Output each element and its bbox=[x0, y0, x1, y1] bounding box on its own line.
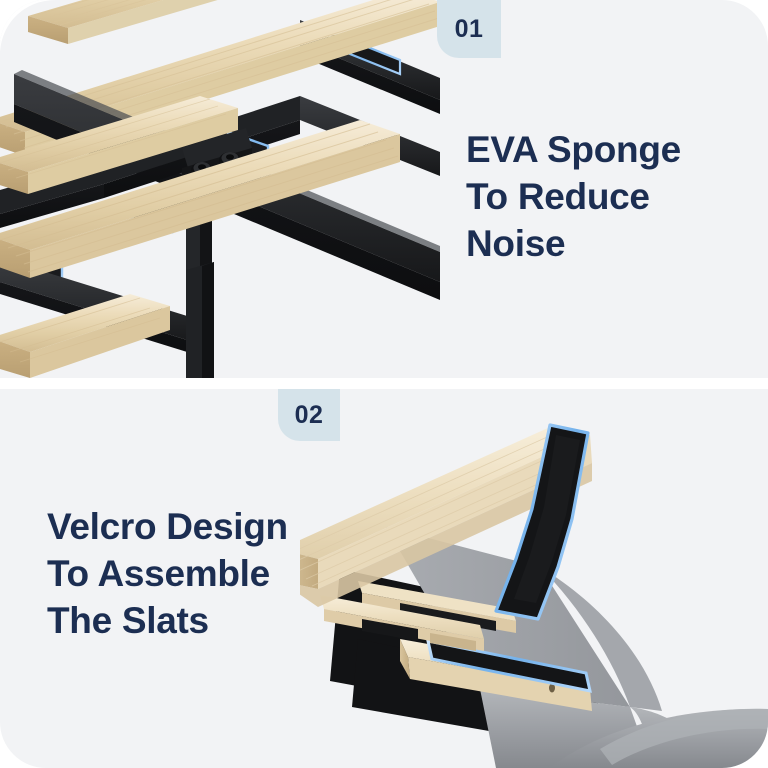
panel-heading-02: Velcro Design To Assemble The Slats bbox=[47, 504, 288, 645]
panel-divider bbox=[0, 378, 768, 389]
panel-badge-01: 01 bbox=[437, 0, 501, 58]
infographic-card: 01 EVA Sponge To Reduce Noise bbox=[0, 0, 768, 768]
panel-heading-01: EVA Sponge To Reduce Noise bbox=[466, 127, 681, 268]
feature-panel-02: 02 Velcro Design To Assemble The Slats bbox=[0, 389, 768, 768]
bed-frame-joint-photo bbox=[0, 0, 440, 378]
feature-panel-01: 01 EVA Sponge To Reduce Noise bbox=[0, 0, 768, 378]
velcro-slat-photo bbox=[300, 389, 768, 768]
panel-badge-02: 02 bbox=[278, 389, 340, 441]
